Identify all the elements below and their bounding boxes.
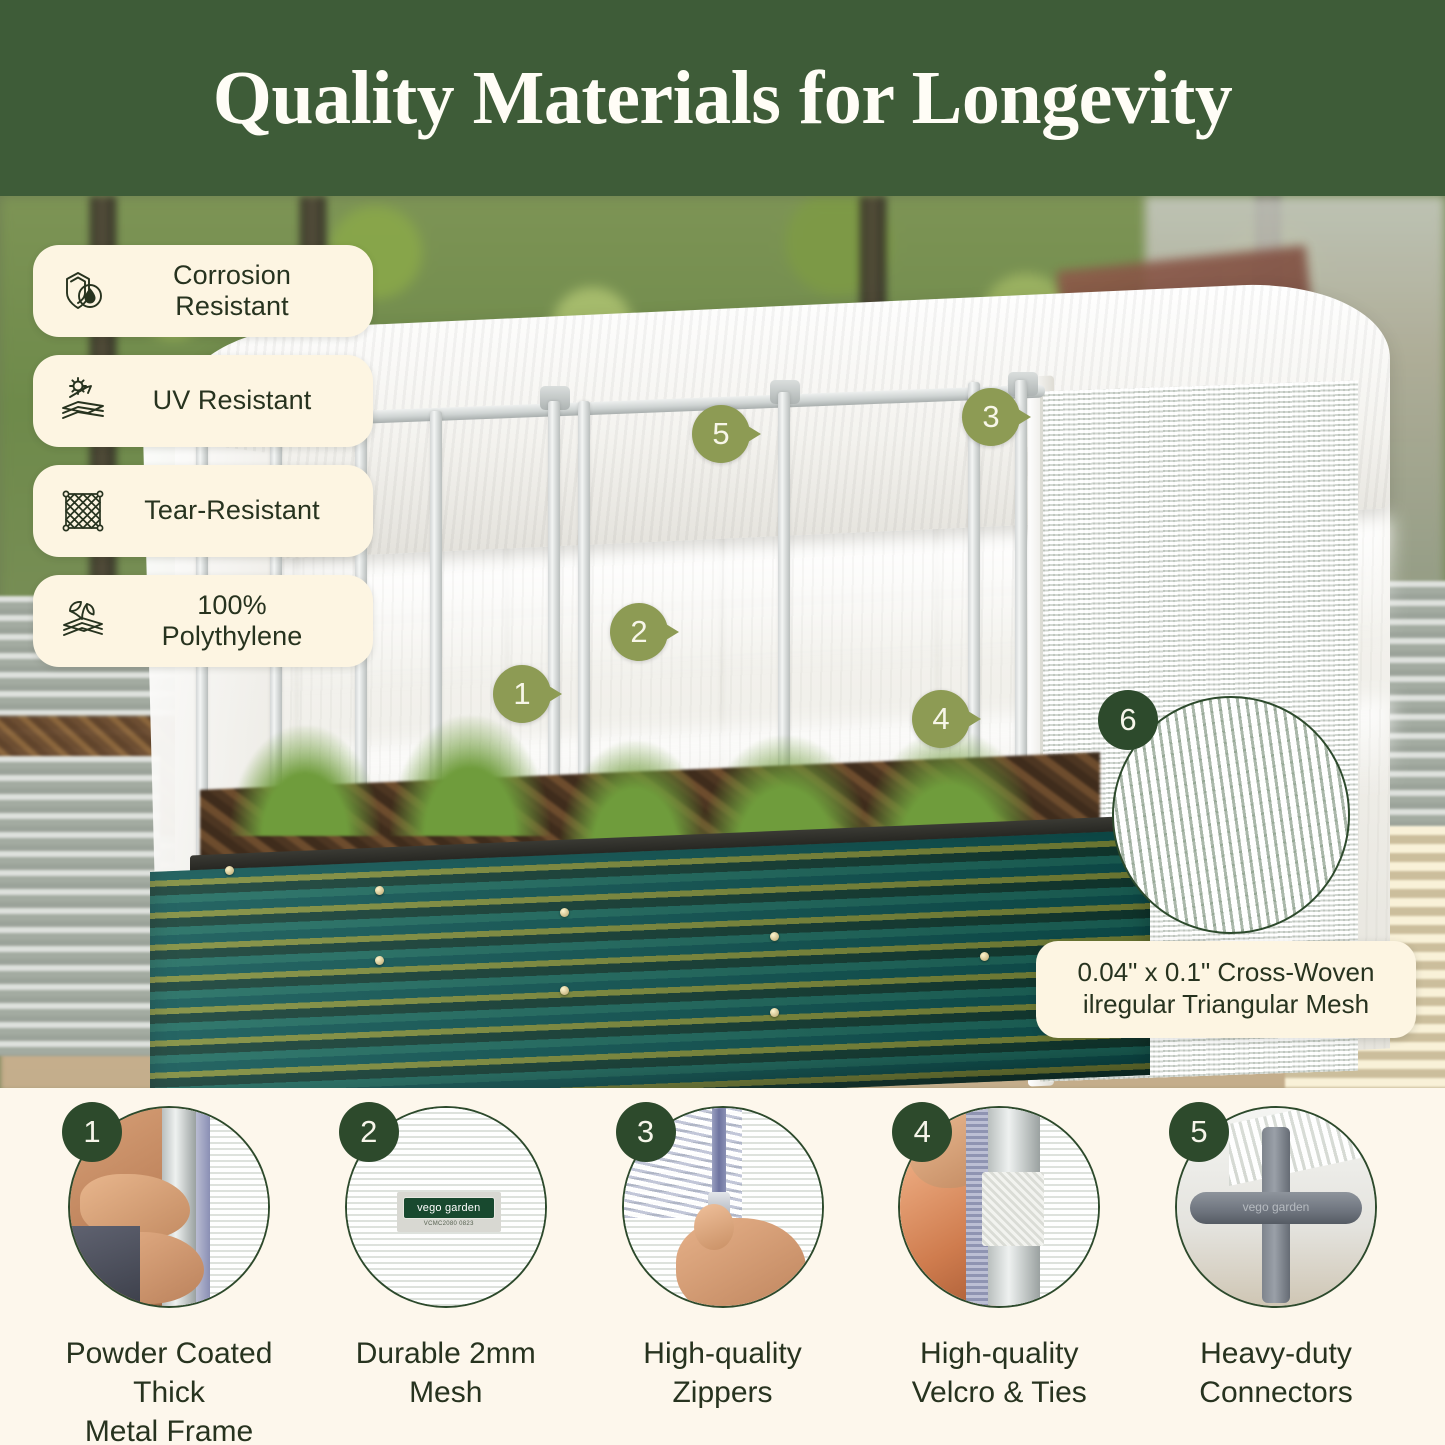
thumbnail-badge-3: 3 [616, 1102, 676, 1162]
feature-card-corrosion-resistant[interactable]: CorrosionResistant [33, 245, 373, 337]
thumbnail-caption-5: Heavy-dutyConnectors [1199, 1334, 1352, 1412]
feature-card-uv-resistant[interactable]: UV Resistant [33, 355, 373, 447]
sun-uv-layers-icon [51, 375, 115, 427]
marker-number: 3 [982, 399, 999, 435]
thumbnail-badge-2: 2 [339, 1102, 399, 1162]
mesh-spec-line-1: 0.04" x 0.1" Cross-Woven [1056, 957, 1396, 989]
plant [230, 726, 380, 836]
mesh-spec-line-2: ilregular Triangular Mesh [1056, 989, 1396, 1021]
vego-garden-logo-text: vego garden [403, 1197, 495, 1219]
leaf-layers-icon [51, 595, 115, 647]
feature-card-polythylene[interactable]: 100%Polythylene [33, 575, 373, 667]
raised-garden-bed [150, 830, 1150, 1088]
thumbnail-caption-2: Durable 2mmMesh [356, 1334, 536, 1412]
feature-label: Tear-Resistant [115, 495, 357, 526]
photo-marker-3[interactable]: 3 [962, 388, 1020, 446]
plant [390, 716, 550, 836]
bed-screw [770, 1008, 779, 1017]
thumbnail-item-3[interactable]: 3 High-qualityZippers [598, 1106, 848, 1445]
page-title: Quality Materials for Longevity [213, 60, 1233, 136]
photo-marker-5[interactable]: 5 [692, 405, 750, 463]
mesh-net-icon [51, 485, 115, 537]
feature-card-list: CorrosionResistant UV Resistant [33, 245, 373, 667]
feature-label: 100%Polythylene [115, 590, 357, 653]
thumbnail-caption-3: High-qualityZippers [643, 1334, 801, 1412]
thumbnail-caption-4: High-qualityVelcro & Ties [912, 1334, 1087, 1412]
bed-screw [375, 956, 384, 965]
vego-garden-label: vego garden VCMC2080 0823 [397, 1192, 501, 1232]
thumbnail-item-5[interactable]: vego garden 5 Heavy-dutyConnectors [1151, 1106, 1401, 1445]
connector-brand-text: vego garden [1220, 1200, 1332, 1214]
header-band: Quality Materials for Longevity [0, 0, 1445, 196]
thumbnail-badge-4: 4 [892, 1102, 952, 1162]
bed-screw [560, 986, 569, 995]
bed-screw [375, 886, 384, 895]
photo-marker-1[interactable]: 1 [493, 665, 551, 723]
marker-number: 2 [630, 614, 647, 650]
thumbnail-item-4[interactable]: 4 High-qualityVelcro & Ties [874, 1106, 1124, 1445]
feature-label: UV Resistant [115, 385, 357, 416]
thumbnail-badge-1: 1 [62, 1102, 122, 1162]
thumbnail-caption-1: Powder Coated ThickMetal Frame [44, 1334, 294, 1445]
side-raised-bed [0, 756, 160, 1056]
marker-number: 4 [932, 701, 949, 737]
mesh-spec-callout: 0.04" x 0.1" Cross-Woven ilregular Trian… [1036, 941, 1416, 1038]
bed-screw [225, 866, 234, 875]
thumbnail-badge-5: 5 [1169, 1102, 1229, 1162]
bed-screw [770, 932, 779, 941]
photo-marker-2[interactable]: 2 [610, 603, 668, 661]
infographic-page: Quality Materials for Longevity [0, 0, 1445, 1445]
thumbnail-item-2[interactable]: vego garden VCMC2080 0823 2 Durable 2mmM… [321, 1106, 571, 1445]
vego-garden-model-code: VCMC2080 0823 [424, 1221, 474, 1227]
thumbnail-item-1[interactable]: 1 Powder Coated ThickMetal Frame [44, 1106, 294, 1445]
feature-card-tear-resistant[interactable]: Tear-Resistant [33, 465, 373, 557]
marker-number: 6 [1119, 702, 1136, 738]
feature-label: CorrosionResistant [115, 260, 357, 323]
marker-number: 5 [712, 416, 729, 452]
bed-screw [560, 908, 569, 917]
detail-thumbnail-strip: 1 Powder Coated ThickMetal Frame vego ga… [0, 1088, 1445, 1445]
shield-droplet-icon [51, 265, 115, 317]
marker-number: 1 [513, 676, 530, 712]
bed-screw [980, 952, 989, 961]
thumbnail-row: 1 Powder Coated ThickMetal Frame vego ga… [0, 1106, 1445, 1445]
photo-marker-6[interactable]: 6 [1098, 690, 1158, 750]
photo-marker-4[interactable]: 4 [912, 690, 970, 748]
